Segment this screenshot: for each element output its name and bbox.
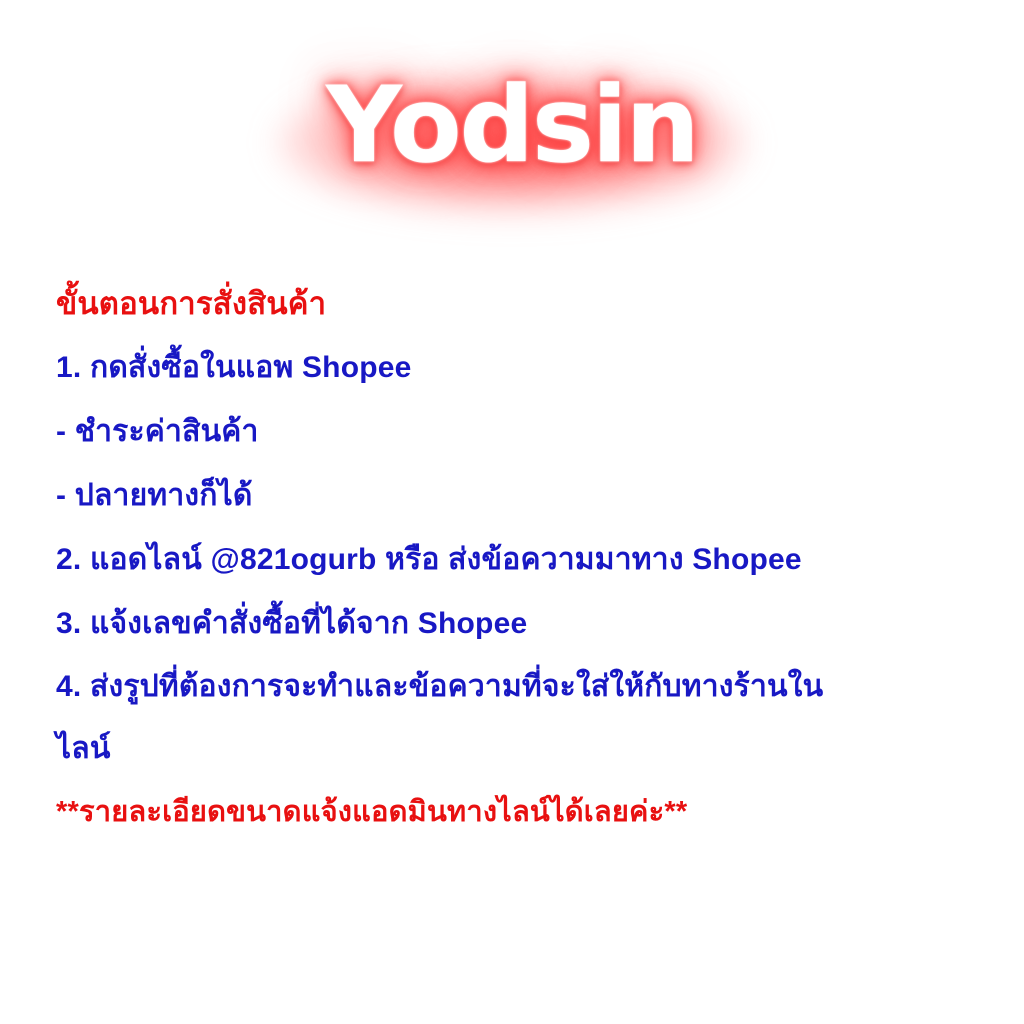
step-4-line-continued: ไลน์ bbox=[56, 718, 986, 780]
step-3-line-order-number: 3. แจ้งเลขคำสั่งซื้อที่ได้จาก Shopee bbox=[56, 592, 986, 656]
footnote-size-details: **รายละเอียดขนาดแจ้งแอดมินทางไลน์ได้เลยค… bbox=[56, 780, 986, 844]
step-2-line-add-line: 2. แอดไลน์ @821ogurb หรือ ส่งข้อความมาทา… bbox=[56, 528, 986, 592]
step-1-bullet-cod: - ปลายทางก็ได้ bbox=[56, 464, 986, 528]
promo-image-root: Yodsin ขั้นตอนการสั่งสินค้า 1. กดสั่งซื้… bbox=[0, 0, 1024, 1024]
order-steps-block: ขั้นตอนการสั่งสินค้า 1. กดสั่งซื้อในแอพ … bbox=[56, 272, 986, 844]
section-heading: ขั้นตอนการสั่งสินค้า bbox=[56, 272, 986, 336]
step-4-line-send-image: 4. ส่งรูปที่ต้องการจะทำและข้อความที่จะใส… bbox=[56, 656, 986, 718]
step-1-line: 1. กดสั่งซื้อในแอพ Shopee bbox=[56, 336, 986, 400]
step-1-bullet-payment: - ชำระค่าสินค้า bbox=[56, 400, 986, 464]
brand-logo-text: Yodsin bbox=[326, 73, 697, 177]
brand-logo: Yodsin bbox=[0, 0, 1024, 250]
